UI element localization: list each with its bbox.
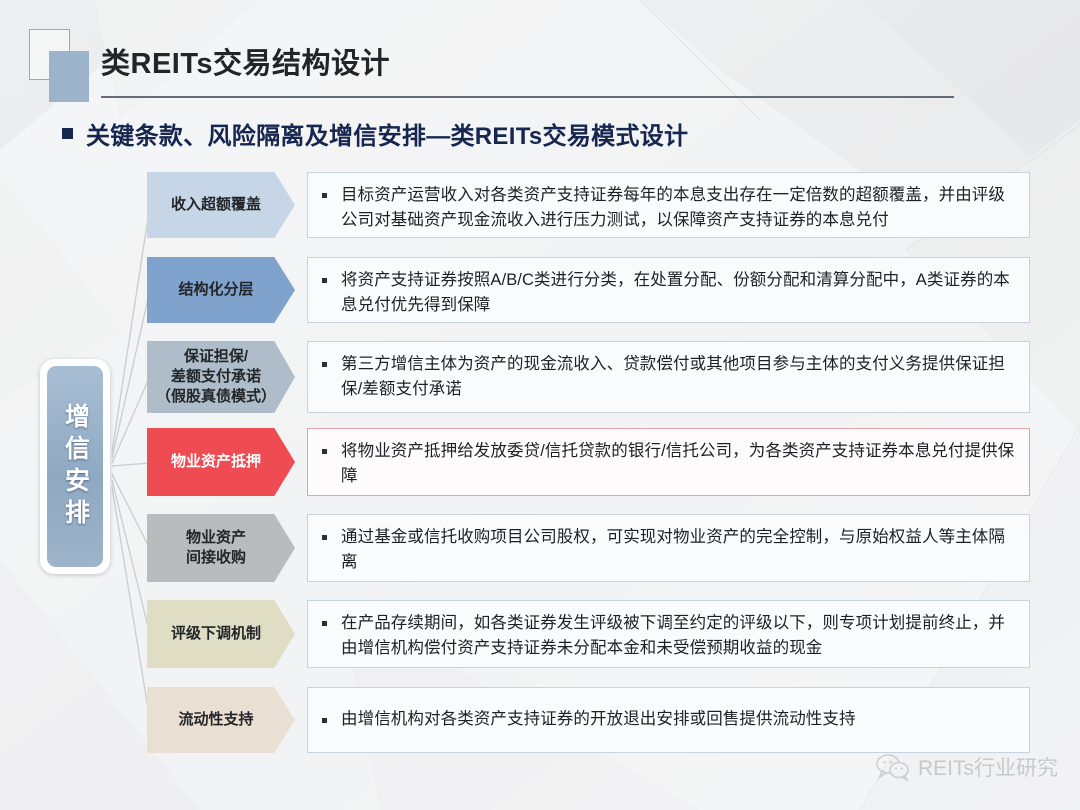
- row-tag-label: 流动性支持: [178, 710, 253, 730]
- slide-canvas: 类REITs交易结构设计 关键条款、风险隔离及增信安排—类REITs交易模式设计…: [0, 0, 1080, 810]
- row-tag-label: 评级下调机制: [171, 624, 261, 644]
- row-tag-label: 收入超额覆盖: [171, 195, 261, 215]
- row-body-text: 目标资产运营收入对各类资产支持证券每年的本息支出存在一定倍数的超额覆盖，并由评级…: [341, 183, 1017, 233]
- bullet-icon: [322, 621, 327, 626]
- row-body: 在产品存续期间，如各类证券发生评级被下调至约定的评级以下，则专项计划提前终止，并…: [307, 600, 1030, 668]
- row-tag[interactable]: 评级下调机制: [147, 600, 295, 668]
- table-row: 评级下调机制 在产品存续期间，如各类证券发生评级被下调至约定的评级以下，则专项计…: [147, 600, 295, 668]
- table-row: 保证担保/ 差额支付承诺 （假股真债模式） 第三方增信主体为资产的现金流收入、贷…: [147, 341, 295, 413]
- row-tag-label: 保证担保/ 差额支付承诺 （假股真债模式）: [156, 347, 276, 406]
- row-body: 目标资产运营收入对各类资产支持证券每年的本息支出存在一定倍数的超额覆盖，并由评级…: [307, 172, 1030, 238]
- table-row: 收入超额覆盖 目标资产运营收入对各类资产支持证券每年的本息支出存在一定倍数的超额…: [147, 172, 295, 238]
- row-tag[interactable]: 物业资产抵押: [147, 428, 295, 496]
- row-tag[interactable]: 结构化分层: [147, 257, 295, 323]
- row-tag[interactable]: 保证担保/ 差额支付承诺 （假股真债模式）: [147, 341, 295, 413]
- bullet-icon: [322, 362, 327, 367]
- watermark-text: REITs行业研究: [918, 752, 1058, 782]
- row-body-text: 第三方增信主体为资产的现金流收入、贷款偿付或其他项目参与主体的支付义务提供保证担…: [341, 352, 1017, 402]
- row-body-text: 将资产支持证券按照A/B/C类进行分类，在处置分配、份额分配和清算分配中，A类证…: [341, 268, 1017, 318]
- row-tag[interactable]: 收入超额覆盖: [147, 172, 295, 238]
- row-tag-label: 物业资产抵押: [171, 452, 261, 472]
- row-tag-label: 结构化分层: [178, 280, 253, 300]
- bullet-icon: [322, 449, 327, 454]
- table-row: 物业资产 间接收购 通过基金或信托收购项目公司股权，可实现对物业资产的完全控制，…: [147, 514, 295, 582]
- row-body: 第三方增信主体为资产的现金流收入、贷款偿付或其他项目参与主体的支付义务提供保证担…: [307, 341, 1030, 413]
- watermark: REITs行业研究: [876, 752, 1058, 782]
- bullet-icon: [322, 278, 327, 283]
- row-tag[interactable]: 流动性支持: [147, 687, 295, 753]
- row-body-text: 通过基金或信托收购项目公司股权，可实现对物业资产的完全控制，与原始权益人等主体隔…: [341, 525, 1017, 575]
- row-body-text: 将物业资产抵押给发放委贷/信托贷款的银行/信托公司，为各类资产支持证券本息兑付提…: [341, 439, 1017, 489]
- wechat-icon: [876, 753, 910, 781]
- table-row: 结构化分层 将资产支持证券按照A/B/C类进行分类，在处置分配、份额分配和清算分…: [147, 257, 295, 323]
- row-tag-label: 物业资产 间接收购: [186, 528, 246, 568]
- table-row: 物业资产抵押 将物业资产抵押给发放委贷/信托贷款的银行/信托公司，为各类资产支持…: [147, 428, 295, 496]
- row-body: 由增信机构对各类资产支持证券的开放退出安排或回售提供流动性支持: [307, 687, 1030, 753]
- row-body-text: 在产品存续期间，如各类证券发生评级被下调至约定的评级以下，则专项计划提前终止，并…: [341, 611, 1017, 661]
- bullet-icon: [322, 718, 327, 723]
- row-body: 将资产支持证券按照A/B/C类进行分类，在处置分配、份额分配和清算分配中，A类证…: [307, 257, 1030, 323]
- row-body: 通过基金或信托收购项目公司股权，可实现对物业资产的完全控制，与原始权益人等主体隔…: [307, 514, 1030, 582]
- row-body-text: 由增信机构对各类资产支持证券的开放退出安排或回售提供流动性支持: [341, 707, 856, 732]
- row-body: 将物业资产抵押给发放委贷/信托贷款的银行/信托公司，为各类资产支持证券本息兑付提…: [307, 428, 1030, 496]
- table-row: 流动性支持 由增信机构对各类资产支持证券的开放退出安排或回售提供流动性支持: [147, 687, 295, 753]
- row-tag[interactable]: 物业资产 间接收购: [147, 514, 295, 582]
- bullet-icon: [322, 193, 327, 198]
- bullet-icon: [322, 535, 327, 540]
- measure-rows: 收入超额覆盖 目标资产运营收入对各类资产支持证券每年的本息支出存在一定倍数的超额…: [0, 0, 1080, 810]
